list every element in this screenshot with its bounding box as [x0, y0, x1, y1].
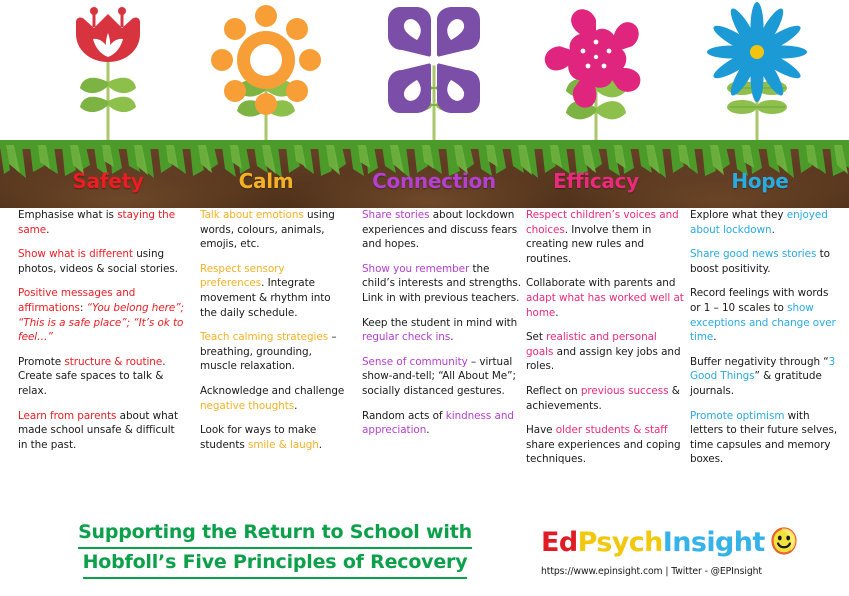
poster-title: Supporting the Return to School with Hob… — [30, 519, 520, 579]
brand-part-1: Ed — [541, 527, 578, 558]
tip-text: . — [294, 400, 297, 412]
column-connection: Share stories about lockdown experiences… — [362, 208, 524, 438]
tip-highlight: Sense of community — [362, 356, 468, 368]
column-hope: Explore what they enjoyed about lockdown… — [690, 208, 842, 467]
tip-hope-3: Record feelings with words or 1 – 10 sca… — [690, 286, 842, 344]
brand-block: EdPsychInsight https://www.epinsight.com… — [541, 527, 841, 577]
brand-part-2: Psych — [578, 527, 663, 558]
heading-hope: Hope — [690, 169, 830, 193]
tip-text: Promote — [18, 356, 64, 368]
tip-hope-1: Explore what they enjoyed about lockdown… — [690, 208, 842, 237]
tip-safety-3: Positive messages and affirmations: “You… — [18, 286, 186, 344]
tip-highlight: structure & routine — [64, 356, 162, 368]
heading-efficacy: Efficacy — [518, 169, 674, 193]
tip-text: share experiences and coping techniques. — [526, 439, 681, 466]
flower-cell-connection — [374, 0, 494, 143]
tip-efficacy-2: Collaborate with parents and adapt what … — [526, 276, 684, 320]
edpsychinsight-logo: EdPsychInsight — [541, 527, 841, 559]
tip-connection-2: Show you remember the child’s interests … — [362, 262, 524, 306]
tip-text: Acknowledge and challenge — [200, 385, 344, 397]
tip-text: Explore what they — [690, 209, 787, 221]
tip-text: . — [450, 331, 453, 343]
tip-efficacy-1: Respect children’s voices and choices. I… — [526, 208, 684, 266]
tip-safety-5: Learn from parents about what made schoo… — [18, 409, 186, 453]
footer: Supporting the Return to School with Hob… — [0, 513, 849, 596]
tip-text: Emphasise what is — [18, 209, 117, 221]
tip-text: Buffer negativity through “ — [690, 356, 829, 368]
brand-url-text: https://www.epinsight.com | Twitter - @E… — [541, 566, 841, 577]
tip-calm-1: Talk about emotions using words, colours… — [200, 208, 350, 252]
cherry-blossom-flower — [536, 0, 656, 143]
tip-text: . — [555, 307, 558, 319]
smiley-face-icon — [770, 527, 798, 555]
tip-text: Random acts of — [362, 410, 446, 422]
tip-safety-2: Show what is different using photos, vid… — [18, 247, 186, 276]
flower-cell-calm — [206, 0, 326, 143]
tulip-flower — [48, 0, 168, 143]
poster-root: Safety Calm Connection Efficacy Hope Emp… — [0, 0, 849, 596]
column-safety: Emphasise what is staying the same.Show … — [18, 208, 186, 452]
tip-calm-3: Teach calming strategies – breathing, gr… — [200, 330, 350, 374]
poster-title-line2: Hobfoll’s Five Principles of Recovery — [83, 549, 468, 579]
tip-connection-5: Random acts of kindness and appreciation… — [362, 409, 524, 438]
flower-cell-efficacy — [536, 0, 656, 143]
tip-text: . — [713, 331, 716, 343]
tip-safety-1: Emphasise what is staying the same. — [18, 208, 186, 237]
tip-hope-4: Buffer negativity through “3 Good Things… — [690, 355, 842, 399]
tip-efficacy-5: Have older students & staff share experi… — [526, 423, 684, 467]
tip-text: Keep the student in mind with — [362, 317, 517, 329]
brand-part-3: Insight — [663, 527, 765, 558]
tip-calm-4: Acknowledge and challenge negative thoug… — [200, 384, 350, 413]
tip-connection-3: Keep the student in mind with regular ch… — [362, 316, 524, 345]
tip-efficacy-4: Reflect on previous success & achievemen… — [526, 384, 684, 413]
tip-text: Reflect on — [526, 385, 581, 397]
tip-text: : — [80, 302, 87, 314]
column-efficacy: Respect children’s voices and choices. I… — [526, 208, 684, 467]
tip-highlight: older students & staff — [556, 424, 668, 436]
soil-grass-band: Safety Calm Connection Efficacy Hope — [0, 140, 849, 208]
tip-text: Collaborate with parents and — [526, 277, 675, 289]
tip-hope-5: Promote optimism with letters to their f… — [690, 409, 842, 467]
tip-text: Have — [526, 424, 556, 436]
tip-highlight: negative thoughts — [200, 400, 294, 412]
tip-highlight: Talk about emotions — [200, 209, 304, 221]
tip-highlight: Share stories — [362, 209, 429, 221]
heading-calm: Calm — [196, 169, 336, 193]
tip-highlight: adapt what has worked well at home — [526, 292, 684, 319]
aster-flower — [697, 0, 817, 143]
tip-text: Set — [526, 331, 546, 343]
tip-highlight: Learn from parents — [18, 410, 116, 422]
clover-flower — [374, 0, 494, 143]
tip-highlight: Teach calming strategies — [200, 331, 328, 343]
tip-hope-2: Share good news stories to boost positiv… — [690, 247, 842, 276]
tip-text: . — [46, 224, 49, 236]
flower-cell-hope — [697, 0, 817, 143]
flower-cell-safety — [48, 0, 168, 143]
tip-connection-1: Share stories about lockdown experiences… — [362, 208, 524, 252]
tip-highlight: regular check ins — [362, 331, 450, 343]
tip-text: . — [426, 424, 429, 436]
daisy-round-flower — [206, 0, 326, 143]
tip-calm-2: Respect sensory preferences. Integrate m… — [200, 262, 350, 320]
flower-band — [0, 0, 849, 143]
heading-connection: Connection — [352, 169, 516, 193]
tip-highlight: previous success — [581, 385, 669, 397]
heading-safety: Safety — [18, 169, 198, 193]
tip-connection-4: Sense of community – virtual show-and-te… — [362, 355, 524, 399]
principles-columns: Emphasise what is staying the same.Show … — [0, 208, 849, 513]
tip-highlight: Show what is different — [18, 248, 133, 260]
tip-highlight: Promote optimism — [690, 410, 784, 422]
tip-highlight: Show you remember — [362, 263, 469, 275]
tip-highlight: smile & laugh — [248, 439, 319, 451]
tip-text: . — [319, 439, 322, 451]
tip-efficacy-3: Set realistic and personal goals and ass… — [526, 330, 684, 374]
poster-title-line1: Supporting the Return to School with — [78, 519, 472, 549]
tip-safety-4: Promote structure & routine. Create safe… — [18, 355, 186, 399]
tip-text: . — [772, 224, 775, 236]
tip-calm-5: Look for ways to make students smile & l… — [200, 423, 350, 452]
column-calm: Talk about emotions using words, colours… — [200, 208, 350, 452]
tip-highlight: Share good news stories — [690, 248, 816, 260]
